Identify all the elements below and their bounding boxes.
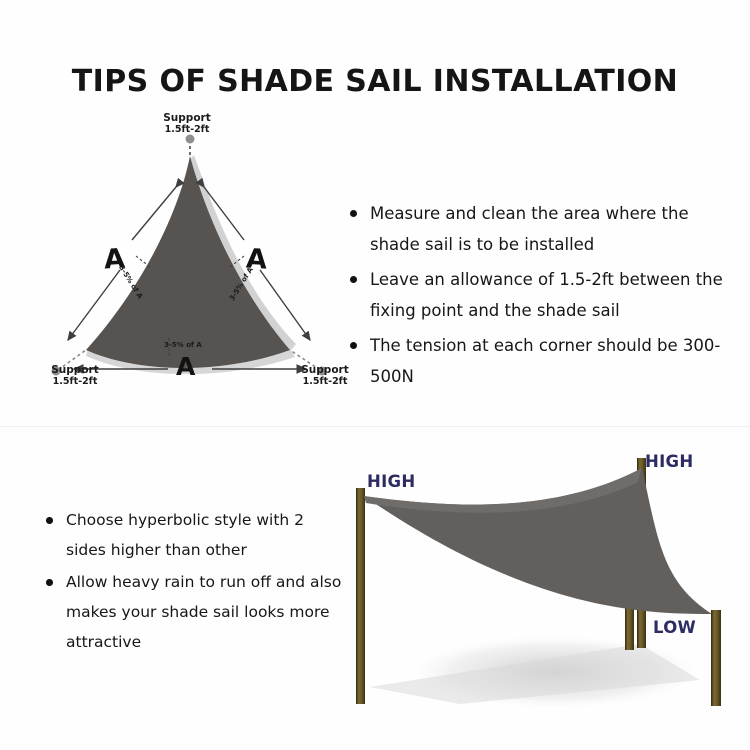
label-low: LOW	[653, 618, 696, 637]
support-label-left-title: Support	[51, 364, 98, 376]
installation-tips-list: Measure and clean the area where the sha…	[348, 198, 738, 396]
list-item: Measure and clean the area where the sha…	[348, 198, 738, 260]
support-label-right-title: Support	[301, 364, 348, 376]
sag-indicator-left	[136, 256, 150, 267]
triangle-shade-sail-diagram: Support 1.5ft-2ft Support 1.5ft-2ft Supp…	[28, 112, 358, 412]
support-label-top: Support 1.5ft-2ft	[122, 112, 252, 136]
list-item: Allow heavy rain to run off and also mak…	[44, 567, 344, 657]
side-label-a-bottom: A	[176, 352, 195, 381]
support-label-left-distance: 1.5ft-2ft	[20, 376, 130, 387]
support-label-top-title: Support	[163, 112, 210, 124]
post-front-right-overlay	[711, 610, 721, 706]
support-label-top-distance: 1.5ft-2ft	[122, 124, 252, 135]
post-back-left	[356, 488, 365, 704]
support-label-left: Support 1.5ft-2ft	[20, 364, 130, 388]
hyperbolic-shade-sail-diagram: HIGH HIGH LOW	[340, 432, 740, 724]
page-title: TIPS OF SHADE SAIL INSTALLATION	[0, 64, 750, 99]
section-divider	[0, 426, 750, 427]
hyperbolic-style-tips-list: Choose hyperbolic style with 2 sides hig…	[44, 505, 344, 659]
shade-sail-installation-infographic: TIPS OF SHADE SAIL INSTALLATION	[0, 0, 750, 750]
label-high-right: HIGH	[645, 452, 694, 471]
curvature-note-bottom: 3-5% of A	[164, 341, 202, 349]
list-item: Leave an allowance of 1.5-2ft between th…	[348, 264, 738, 326]
sail-surface-hyperbolic	[364, 468, 712, 614]
list-item: Choose hyperbolic style with 2 sides hig…	[44, 505, 344, 565]
label-high-left: HIGH	[367, 472, 416, 491]
list-item: The tension at each corner should be 300…	[348, 330, 738, 392]
anchor-dot-top	[186, 135, 195, 144]
